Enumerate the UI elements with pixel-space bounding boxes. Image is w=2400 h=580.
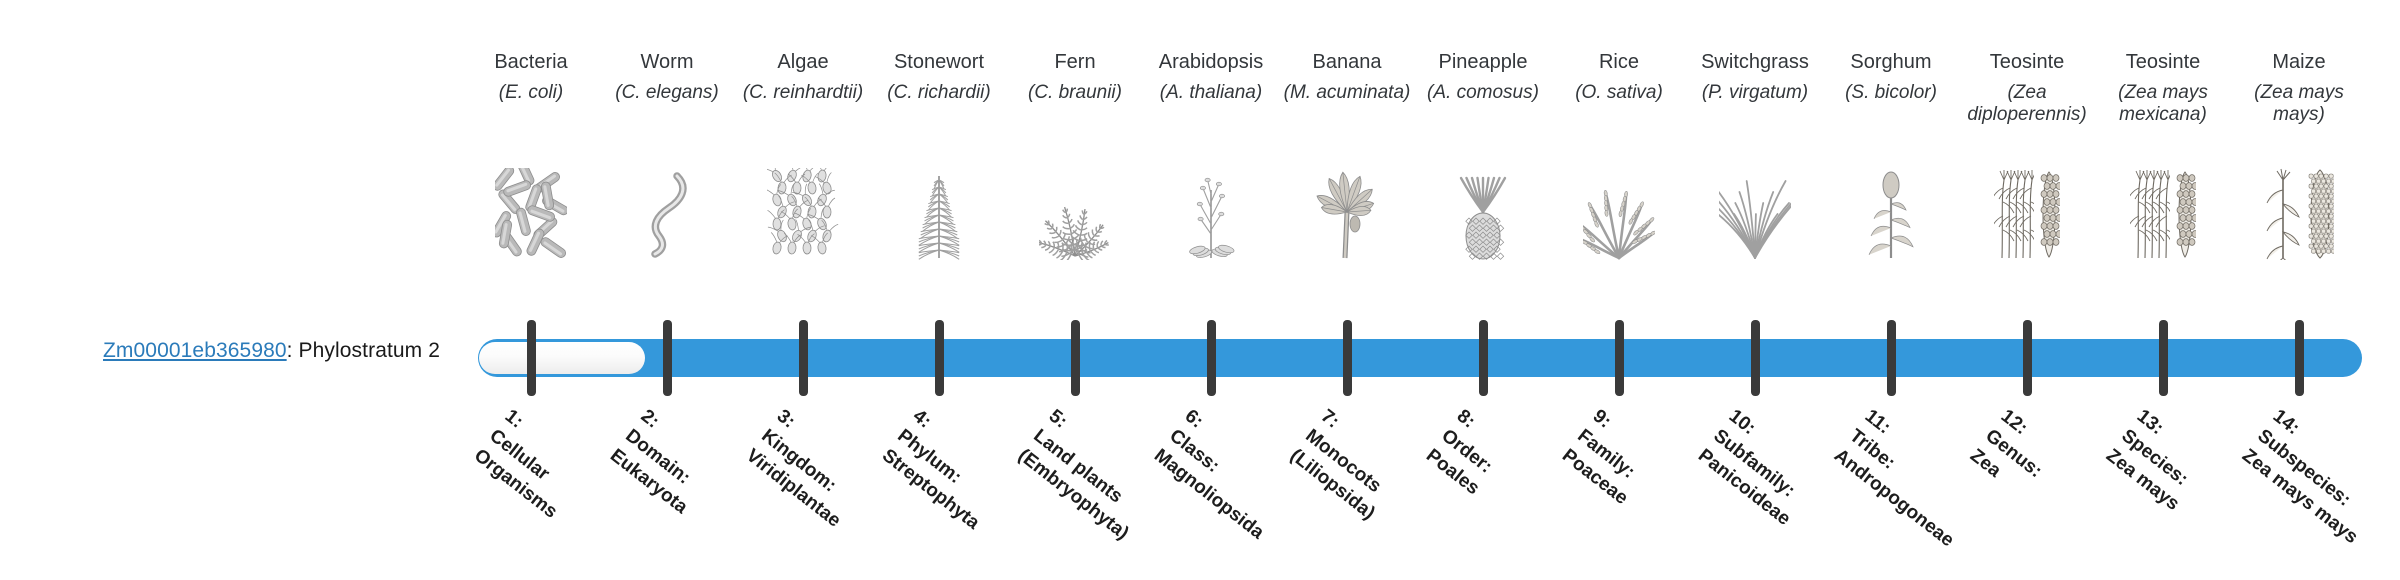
worm-illustration	[599, 168, 735, 260]
tick-mark-5[interactable]	[1071, 320, 1080, 396]
species-common-name: Arabidopsis	[1143, 50, 1279, 74]
stonewort-illustration	[871, 168, 1007, 260]
species-latin-name: (O. sativa)	[1551, 82, 1687, 104]
phylostratum-chart: Zm00001eb365980: Phylostratum 2 Bacteria…	[0, 0, 2400, 580]
species-latin-name: (M. acuminata)	[1279, 82, 1415, 104]
tick-mark-10[interactable]	[1751, 320, 1760, 396]
species-latin-name: (C. braunii)	[1007, 82, 1143, 104]
species-common-name: Pineapple	[1415, 50, 1551, 74]
species-header-arabidopsis-6: Arabidopsis(A. thaliana)	[1143, 50, 1279, 104]
species-header-teosinte-12: Teosinte(Zea diploperennis)	[1959, 50, 2095, 126]
pineapple-illustration	[1415, 168, 1551, 260]
species-common-name: Banana	[1279, 50, 1415, 74]
tick-mark-1[interactable]	[527, 320, 536, 396]
species-latin-name: (C. richardii)	[871, 82, 1007, 104]
tick-mark-6[interactable]	[1207, 320, 1216, 396]
species-common-name: Stonewort	[871, 50, 1007, 74]
species-common-name: Switchgrass	[1687, 50, 1823, 74]
tick-mark-8[interactable]	[1479, 320, 1488, 396]
rice-illustration	[1551, 168, 1687, 260]
species-common-name: Rice	[1551, 50, 1687, 74]
species-latin-name: (S. bicolor)	[1823, 82, 1959, 104]
gene-id-link[interactable]: Zm00001eb365980	[103, 339, 287, 362]
sorghum-illustration	[1823, 168, 1959, 260]
phylostratum-value-text: Phylostratum 2	[299, 339, 440, 362]
species-common-name: Bacteria	[463, 50, 599, 74]
teosinte-illustration	[1959, 168, 2095, 260]
maize-illustration	[2231, 168, 2367, 260]
species-header-maize-14: Maize(Zea mays mays)	[2231, 50, 2367, 126]
species-header-switchgrass-10: Switchgrass(P. virgatum)	[1687, 50, 1823, 104]
species-header-bacteria-1: Bacteria(E. coli)	[463, 50, 599, 104]
tick-mark-14[interactable]	[2295, 320, 2304, 396]
species-latin-name: (A. thaliana)	[1143, 82, 1279, 104]
tick-mark-9[interactable]	[1615, 320, 1624, 396]
species-latin-name: (C. elegans)	[599, 82, 735, 104]
phylostratum-bar-track[interactable]	[478, 339, 2362, 377]
species-header-rice-9: Rice(O. sativa)	[1551, 50, 1687, 104]
gene-phylostratum-label: Zm00001eb365980: Phylostratum 2	[0, 339, 440, 363]
tick-mark-2[interactable]	[663, 320, 672, 396]
species-latin-name: (P. virgatum)	[1687, 82, 1823, 104]
tick-mark-13[interactable]	[2159, 320, 2168, 396]
bacteria-illustration	[463, 168, 599, 260]
teosinte-illustration	[2095, 168, 2231, 260]
species-header-worm-2: Worm(C. elegans)	[599, 50, 735, 104]
tick-mark-11[interactable]	[1887, 320, 1896, 396]
tick-mark-4[interactable]	[935, 320, 944, 396]
banana-illustration	[1279, 168, 1415, 260]
species-latin-name: (A. comosus)	[1415, 82, 1551, 104]
species-common-name: Worm	[599, 50, 735, 74]
species-header-algae-3: Algae(C. reinhardtii)	[735, 50, 871, 104]
species-header-banana-7: Banana(M. acuminata)	[1279, 50, 1415, 104]
species-latin-name: (Zea diploperennis)	[1959, 82, 2095, 126]
species-header-stonewort-4: Stonewort(C. richardii)	[871, 50, 1007, 104]
species-header-fern-5: Fern(C. braunii)	[1007, 50, 1143, 104]
species-common-name: Fern	[1007, 50, 1143, 74]
algae-illustration	[735, 168, 871, 260]
phylostratum-bar-unfilled-segment	[479, 342, 645, 374]
fern-illustration	[1007, 168, 1143, 260]
species-common-name: Teosinte	[1959, 50, 2095, 74]
species-latin-name: (Zea mays mays)	[2231, 82, 2367, 126]
species-latin-name: (Zea mays mexicana)	[2095, 82, 2231, 126]
species-common-name: Maize	[2231, 50, 2367, 74]
species-common-name: Sorghum	[1823, 50, 1959, 74]
switchgrass-illustration	[1687, 168, 1823, 260]
species-header-teosinte-13: Teosinte(Zea mays mexicana)	[2095, 50, 2231, 126]
species-common-name: Algae	[735, 50, 871, 74]
species-common-name: Teosinte	[2095, 50, 2231, 74]
species-latin-name: (E. coli)	[463, 82, 599, 104]
gene-label-separator: :	[287, 339, 299, 362]
species-header-pineapple-8: Pineapple(A. comosus)	[1415, 50, 1551, 104]
tick-mark-7[interactable]	[1343, 320, 1352, 396]
species-latin-name: (C. reinhardtii)	[735, 82, 871, 104]
tick-mark-12[interactable]	[2023, 320, 2032, 396]
tick-mark-3[interactable]	[799, 320, 808, 396]
species-header-sorghum-11: Sorghum(S. bicolor)	[1823, 50, 1959, 104]
arabidopsis-illustration	[1143, 168, 1279, 260]
